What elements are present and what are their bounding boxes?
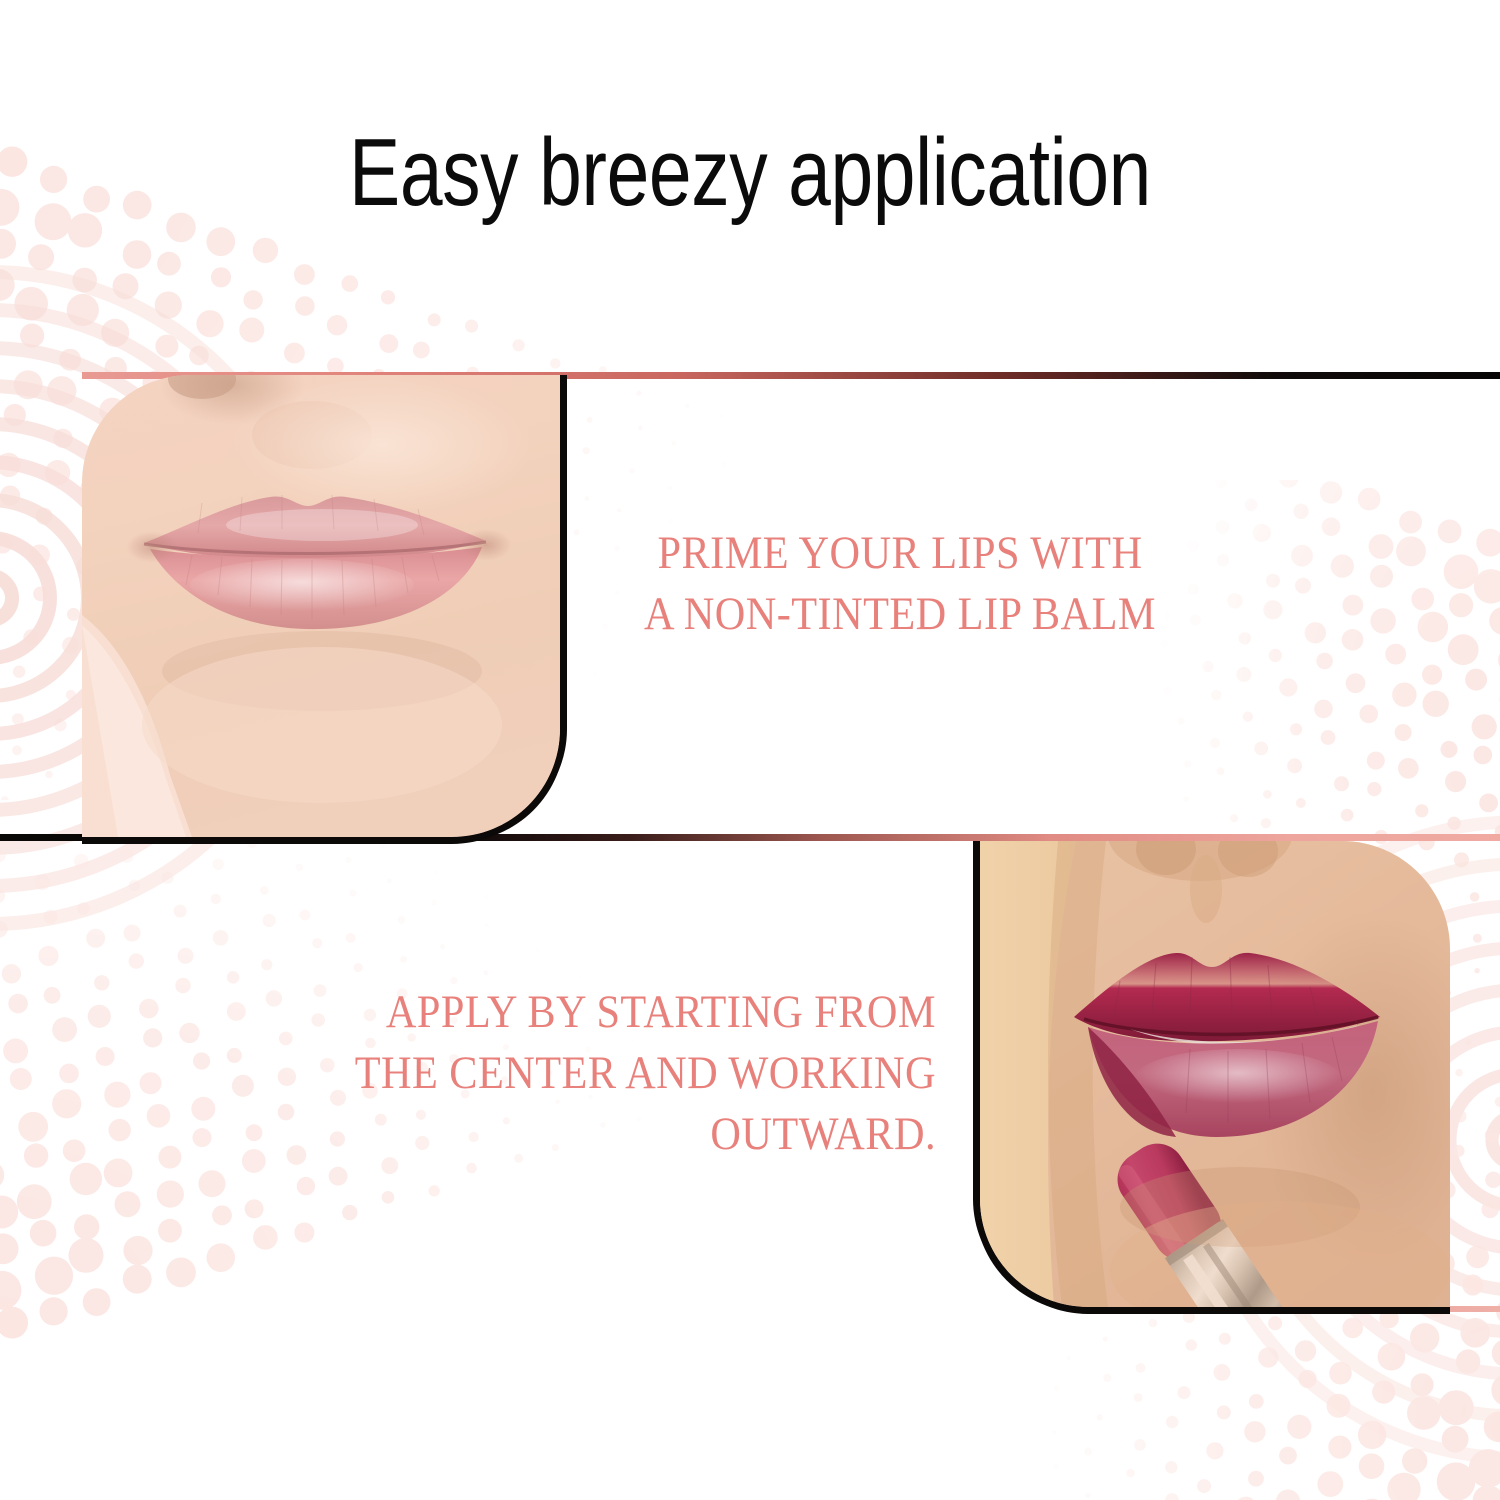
- lipstick-application-photo: [980, 841, 1450, 1307]
- step-1-caption: PRIME YOUR LIPS WITH A NON-TINTED LIP BA…: [594, 523, 1206, 645]
- step-2-caption-line-2: THE CENTER AND WORKING: [270, 1043, 936, 1104]
- step-1-caption-line-1: PRIME YOUR LIPS WITH: [594, 523, 1206, 584]
- step-1-caption-line-2: A NON-TINTED LIP BALM: [594, 584, 1206, 645]
- step-2-caption-line-3: OUTWARD.: [270, 1104, 936, 1165]
- page-title: Easy breezy application: [150, 122, 1350, 224]
- bare-lips-photo: [82, 375, 560, 837]
- poster-canvas: Easy breezy application: [0, 0, 1500, 1500]
- bare-lips-photo-image: [82, 375, 560, 837]
- step-2-caption-line-1: APPLY BY STARTING FROM: [270, 982, 936, 1043]
- step-2-caption: APPLY BY STARTING FROM THE CENTER AND WO…: [270, 982, 936, 1165]
- lipstick-application-photo-image: [980, 841, 1450, 1307]
